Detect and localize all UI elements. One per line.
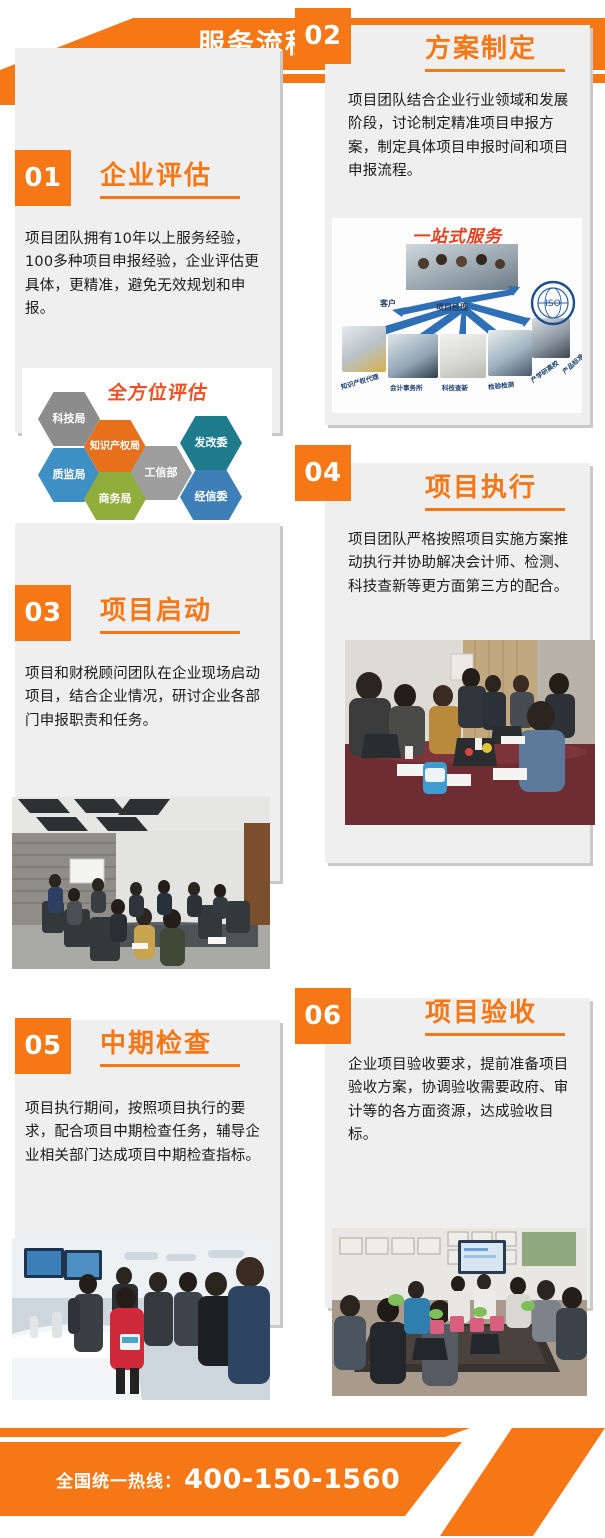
card-01-media-hexagon-diagram: 全方位评估 科技局 知识产权局 发改委 质监局 工信部 商务局 经信委: [22, 368, 272, 520]
footer-wedge: [440, 1428, 605, 1536]
card-03-description: 项目和财税顾问团队在企业现场启动项目，结合企业情况，研讨企业各部门申报职责和任务…: [25, 663, 265, 733]
onestop-thumb-novelty: [440, 334, 486, 378]
hotline-label: 全国统一热线：: [56, 1467, 182, 1492]
onestop-thumb-testing: [488, 330, 532, 376]
card-06-title: 项目验收: [425, 992, 537, 1029]
card-01-number-badge: 01: [15, 150, 71, 206]
card-03-media-photo: [12, 797, 270, 969]
step-card-04[interactable]: 04 项目执行 项目团队严格按照项目实施方案推动执行并协助解决会计师、检测、科技…: [290, 445, 605, 890]
step-card-01[interactable]: 01 企业评估 项目团队拥有10年以上服务经验，100多种项目申报经验，企业评估…: [0, 0, 302, 445]
card-06-number-badge: 06: [295, 988, 351, 1044]
card-02-media-onestop-diagram: 一站式服务: [332, 218, 582, 413]
infographic-page: 服务流程 Service flow 01 企业评估 项目团队拥有10年以上服务经…: [0, 0, 605, 1538]
card-04-title: 项目执行: [425, 467, 537, 504]
hotline-number[interactable]: 400-150-1560: [184, 1464, 400, 1495]
card-05-title: 中期检查: [100, 1023, 212, 1060]
card-03-number-badge: 03: [15, 585, 71, 641]
conference-room-illustration: [12, 797, 270, 969]
card-04-title-rule: [425, 508, 565, 511]
card-04-number-badge: 04: [295, 445, 351, 501]
card-05-media-photo: [12, 1238, 270, 1400]
step-card-02[interactable]: 02 方案制定 项目团队结合企业行业领域和发展阶段，讨论制定精准项目申报方案，制…: [290, 0, 605, 445]
boardroom-acceptance-illustration: [332, 1228, 587, 1396]
card-06-media-photo: [332, 1228, 587, 1396]
card-06-title-rule: [425, 1033, 565, 1036]
card-01-title: 企业评估: [100, 155, 212, 192]
card-02-title: 方案制定: [425, 28, 537, 65]
footer-hotline-group: 全国统一热线： 400-150-1560: [0, 1442, 420, 1516]
card-05-number-badge: 05: [15, 1018, 71, 1074]
card-03-title-rule: [100, 631, 240, 634]
card-04-description: 项目团队严格按照项目实施方案推动执行并协助解决会计师、检测、科技查新等更方面第三…: [348, 529, 576, 599]
onestop-label-novelty-search: 科技查新: [442, 382, 468, 392]
onestop-node-manager: 项目经理: [436, 302, 468, 313]
page-footer: 全国统一热线： 400-150-1560: [0, 1418, 605, 1538]
onestop-node-customer: 客户: [380, 298, 396, 309]
onestop-label-accounting: 会计事务所: [390, 382, 423, 392]
card-01-description: 项目团队拥有10年以上服务经验，100多种项目申报经验，企业评估更具体，更精准，…: [25, 228, 265, 322]
card-02-title-rule: [425, 69, 565, 72]
card-03-title: 项目启动: [100, 590, 212, 627]
card-02-number-badge: 02: [295, 8, 351, 64]
hexagon-diagram-title: 全方位评估: [106, 378, 210, 405]
card-04-media-photo: [345, 640, 595, 825]
onestop-thumb-ip: [342, 326, 386, 372]
onestop-thumb-accounting: [388, 334, 438, 378]
office-meeting-illustration: [345, 640, 595, 825]
onestop-iso-seal-icon: ISO: [530, 280, 576, 326]
card-06-description: 企业项目验收要求，提前准备项目验收方案，协调验收需要政府、审计等的各方面资源，达…: [348, 1054, 576, 1148]
step-card-06[interactable]: 06 项目验收 企业项目验收要求，提前准备项目验收方案，协调验收需要政府、审计等…: [290, 890, 605, 1340]
showroom-visit-illustration: [12, 1238, 270, 1400]
hexagon-fagai-wei: 发改委: [180, 416, 242, 470]
card-02-description: 项目团队结合企业行业领域和发展阶段，讨论制定精准项目申报方案，制定具体项目申报时…: [348, 90, 576, 184]
card-05-description: 项目执行期间，按照项目执行的要求，配合项目中期检查任务，辅导企业相关部门达成项目…: [25, 1098, 265, 1168]
svg-text:ISO: ISO: [545, 299, 560, 309]
card-05-title-rule: [100, 1064, 240, 1067]
card-01-title-rule: [100, 196, 240, 199]
